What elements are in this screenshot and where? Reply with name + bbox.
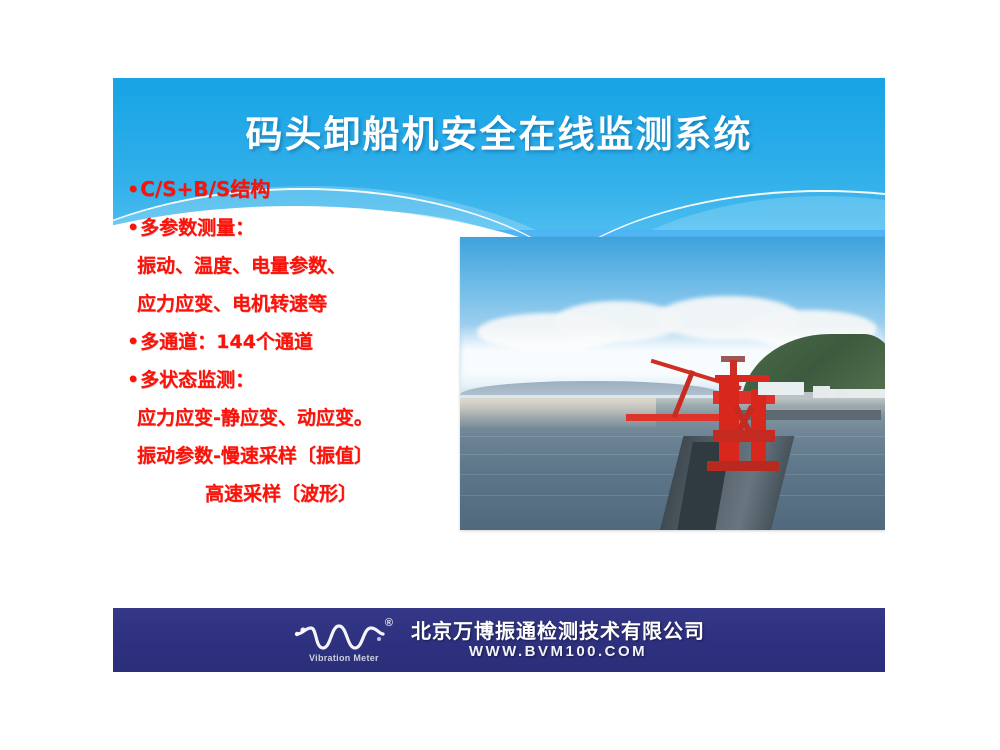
company-name: 北京万博振通检测技术有限公司 [411,621,705,642]
crane-signboard [758,382,805,395]
bullet-item-8: 高速采样〔波形〕 [127,475,477,513]
photo-sea-glare [460,398,656,427]
footer-content: ® Vibration Meter 北京万博振通检测技术有限公司 WWW.BVM… [293,618,705,662]
bullet-text-5: 多状态监测： [140,369,254,391]
bullet-text-6: 应力应变-静应变、动应变。 [137,407,373,429]
bullet-marker-4: • [127,331,139,353]
bullet-marker-5: • [127,369,139,391]
registered-trademark-icon: ® [385,617,393,629]
logo-subtitle: Vibration Meter [309,653,379,663]
crane-leg-right [751,389,766,468]
footer-text-block: 北京万博振通检测技术有限公司 WWW.BVM100.COM [411,621,705,660]
crane-machinery-house [713,430,775,442]
ship-unloader-photo [460,237,885,530]
crane-leg-left [719,381,739,469]
slide-canvas: 码头卸船机安全在线监测系统 •C/S+B/S结构 •多参数测量： 振动、温度、电… [0,0,1000,750]
bullet-item-3: 应力应变、电机转速等 [127,285,477,323]
crane-base-beam [707,461,779,471]
bullet-item-0: •C/S+B/S结构 [127,170,477,209]
bullet-text-0: C/S+B/S结构 [140,177,270,201]
bullet-item-2: 振动、温度、电量参数、 [127,247,477,285]
bullet-item-7: 振动参数-慢速采样〔振值〕 [127,437,477,475]
slide-content-area: 码头卸船机安全在线监测系统 •C/S+B/S结构 •多参数测量： 振动、温度、电… [113,78,885,575]
bullet-marker-1: • [127,217,139,239]
bullet-text-3: 应力应变、电机转速等 [137,293,327,315]
slide-title: 码头卸船机安全在线监测系统 [113,104,885,158]
company-website: WWW.BVM100.COM [469,644,647,660]
bullet-list: •C/S+B/S结构 •多参数测量： 振动、温度、电量参数、 应力应变、电机转速… [127,170,477,513]
bullet-item-4: •多通道：144个通道 [127,323,477,361]
photo-wave-line [460,436,885,437]
bullet-text-1: 多参数测量： [140,217,254,239]
photo-wave-line [460,454,885,455]
bullet-text-2: 振动、温度、电量参数、 [137,255,346,277]
bullet-item-1: •多参数测量： [127,209,477,247]
bullet-text-7: 振动参数-慢速采样〔振值〕 [137,445,373,467]
bullet-item-6: 应力应变-静应变、动应变。 [127,399,477,437]
bullet-text-8: 高速采样〔波形〕 [205,483,357,505]
bullet-item-5: •多状态监测： [127,361,477,399]
bullet-marker-0: • [127,179,139,201]
bullet-text-4: 多通道：144个通道 [140,331,313,353]
vibration-meter-logo: ® Vibration Meter [293,618,397,662]
footer-bar: ® Vibration Meter 北京万博振通检测技术有限公司 WWW.BVM… [113,608,885,672]
